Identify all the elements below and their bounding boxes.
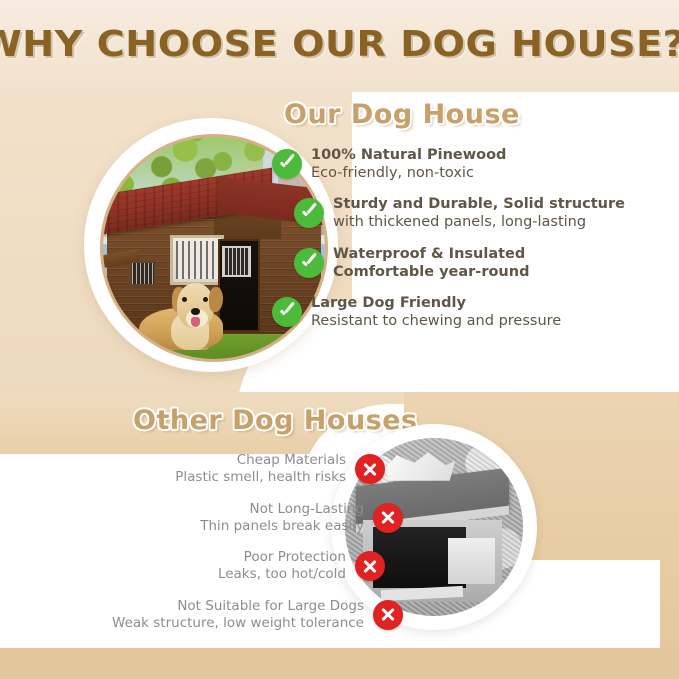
infographic-root: WHY CHOOSE OUR DOG HOUSE?" Our Dog House	[0, 0, 679, 679]
section-title-ours: Our Dog House	[284, 99, 520, 130]
photo-golden-retriever	[139, 277, 223, 350]
section-title-others: Other Dog Houses	[133, 405, 418, 436]
pro-item-line1: Large Dog Friendly	[311, 294, 561, 312]
con-item-line2: Leaks, too hot/cold	[218, 566, 346, 583]
x-circle-icon	[373, 503, 403, 533]
con-item-line2: Weak structure, low weight tolerance	[112, 615, 364, 632]
con-item-line1: Not Suitable for Large Dogs	[112, 598, 364, 615]
pro-item-line2: Comfortable year-round	[333, 263, 529, 281]
pro-item-line2: Eco-friendly, non-toxic	[311, 164, 506, 182]
con-item: Cheap Materials Plastic smell, health ri…	[12, 452, 385, 487]
check-circle-icon	[294, 198, 324, 228]
dog-nose	[191, 308, 200, 315]
pro-item: Large Dog Friendly Resistant to chewing …	[272, 294, 672, 331]
con-item: Poor Protection Leaks, too hot/cold	[12, 549, 385, 584]
con-item-line1: Not Long-Lasting	[200, 501, 364, 518]
pros-list: 100% Natural Pinewood Eco-friendly, non-…	[272, 146, 672, 342]
con-item-line1: Poor Protection	[218, 549, 346, 566]
con-item: Not Suitable for Large Dogs Weak structu…	[12, 598, 403, 633]
pro-item-line2: with thickened panels, long-lasting	[333, 213, 625, 231]
pro-item: Sturdy and Durable, Solid structure with…	[294, 195, 672, 232]
con-item-line2: Plastic smell, health risks	[175, 469, 346, 486]
pro-item-line1: Waterproof & Insulated	[333, 245, 529, 263]
con-item: Not Long-Lasting Thin panels break easil…	[12, 501, 403, 536]
con-item-line2: Thin panels break easily	[200, 518, 364, 535]
check-circle-icon	[272, 297, 302, 327]
x-circle-icon	[355, 454, 385, 484]
pro-item-line2: Resistant to chewing and pressure	[311, 312, 561, 330]
dog-tongue	[191, 317, 200, 327]
cons-list: Cheap Materials Plastic smell, health ri…	[12, 452, 372, 646]
con-item-line1: Cheap Materials	[175, 452, 346, 469]
dog-eye	[203, 297, 208, 302]
photo-door-grate	[222, 246, 251, 277]
photo-loose-panel	[448, 538, 494, 584]
pro-item-line1: 100% Natural Pinewood	[311, 146, 506, 164]
pro-item-line1: Sturdy and Durable, Solid structure	[333, 195, 625, 213]
check-circle-icon	[294, 248, 324, 278]
check-circle-icon	[272, 149, 302, 179]
x-circle-icon	[355, 551, 385, 581]
main-title: WHY CHOOSE OUR DOG HOUSE?"	[0, 24, 679, 65]
pro-item: Waterproof & Insulated Comfortable year-…	[294, 245, 672, 282]
dog-ear	[209, 287, 222, 312]
x-circle-icon	[373, 600, 403, 630]
pro-item: 100% Natural Pinewood Eco-friendly, non-…	[272, 146, 672, 183]
bottom-background-band	[0, 648, 679, 679]
